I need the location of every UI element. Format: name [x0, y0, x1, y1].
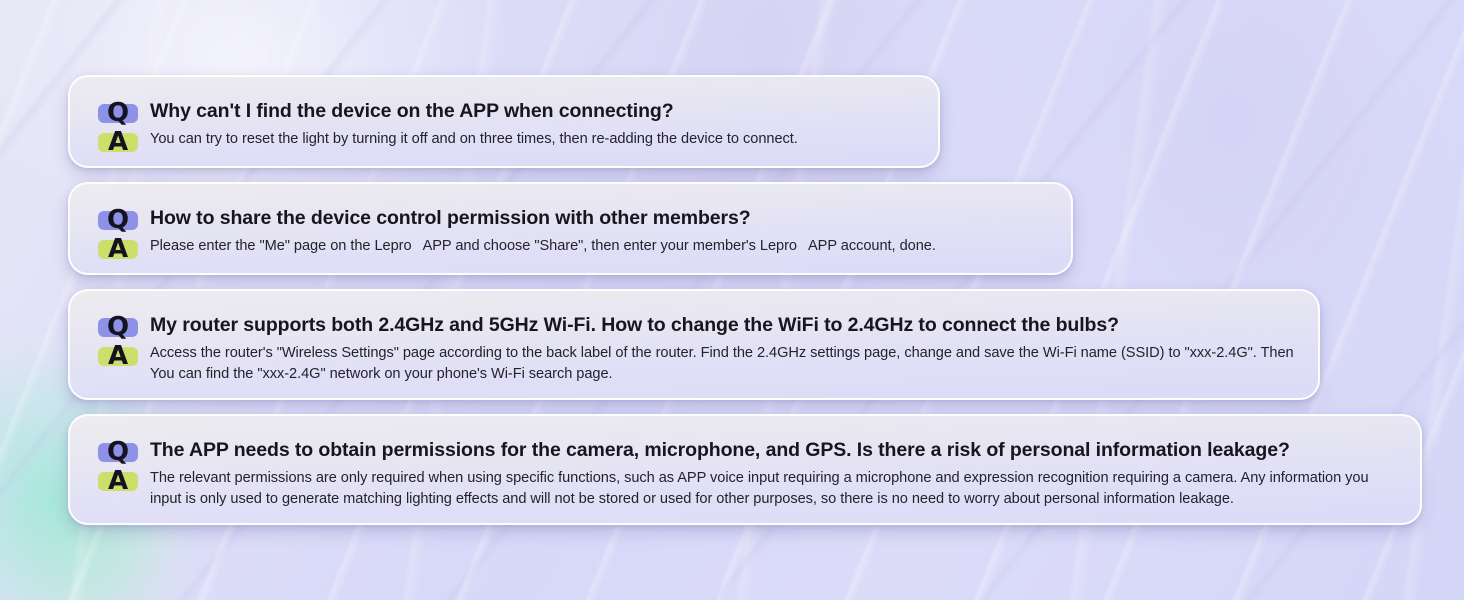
answer-row: A Please enter the "Me" page on the Lepr…	[98, 232, 1051, 259]
answer-text: The relevant permissions are only requir…	[150, 464, 1400, 509]
answer-text-part: You can try to reset the light by turnin…	[150, 131, 798, 147]
question-row: Q The APP needs to obtain permissions fo…	[98, 430, 1400, 464]
question-row: Q How to share the device control permis…	[98, 198, 1051, 232]
question-badge: Q	[98, 443, 138, 462]
question-row: Q My router supports both 2.4GHz and 5GH…	[98, 305, 1298, 339]
answer-badge: A	[98, 240, 138, 259]
answer-text-part: APP account, done.	[808, 238, 936, 254]
answer-text: Access the router's "Wireless Settings" …	[150, 339, 1298, 384]
question-badge-letter: Q	[98, 439, 138, 465]
answer-badge-letter: A	[98, 343, 138, 369]
question-text: Why can't I find the device on the APP w…	[150, 91, 674, 125]
answer-badge: A	[98, 347, 138, 366]
answer-text: Please enter the "Me" page on the LeproA…	[150, 232, 936, 257]
answer-badge-letter: A	[98, 129, 138, 155]
question-text: How to share the device control permissi…	[150, 198, 751, 232]
answer-text-part: Access the router's "Wireless Settings" …	[150, 345, 1294, 382]
answer-badge-letter: A	[98, 236, 138, 262]
question-badge: Q	[98, 211, 138, 230]
question-badge-letter: Q	[98, 100, 138, 126]
answer-text-part: Please enter the "Me" page on the Lepro	[150, 238, 412, 254]
answer-badge: A	[98, 133, 138, 152]
answer-text: You can try to reset the light by turnin…	[150, 125, 798, 150]
answer-row: A The relevant permissions are only requ…	[98, 464, 1400, 509]
question-text: My router supports both 2.4GHz and 5GHz …	[150, 305, 1119, 339]
question-badge-letter: Q	[98, 207, 138, 233]
answer-row: A You can try to reset the light by turn…	[98, 125, 918, 152]
faq-page: Q Why can't I find the device on the APP…	[0, 0, 1464, 600]
answer-row: A Access the router's "Wireless Settings…	[98, 339, 1298, 384]
question-row: Q Why can't I find the device on the APP…	[98, 91, 918, 125]
faq-card[interactable]: Q My router supports both 2.4GHz and 5GH…	[68, 289, 1320, 400]
question-badge: Q	[98, 318, 138, 337]
question-badge: Q	[98, 104, 138, 123]
question-badge-letter: Q	[98, 314, 138, 340]
faq-card[interactable]: Q Why can't I find the device on the APP…	[68, 75, 940, 168]
answer-badge: A	[98, 472, 138, 491]
faq-card[interactable]: Q How to share the device control permis…	[68, 182, 1073, 275]
question-text: The APP needs to obtain permissions for …	[150, 430, 1290, 464]
faq-card[interactable]: Q The APP needs to obtain permissions fo…	[68, 414, 1422, 525]
answer-text-part: The relevant permissions are only requir…	[150, 470, 1369, 507]
answer-text-part: APP and choose "Share", then enter your …	[423, 238, 797, 254]
faq-list: Q Why can't I find the device on the APP…	[68, 75, 1422, 525]
answer-badge-letter: A	[98, 468, 138, 494]
